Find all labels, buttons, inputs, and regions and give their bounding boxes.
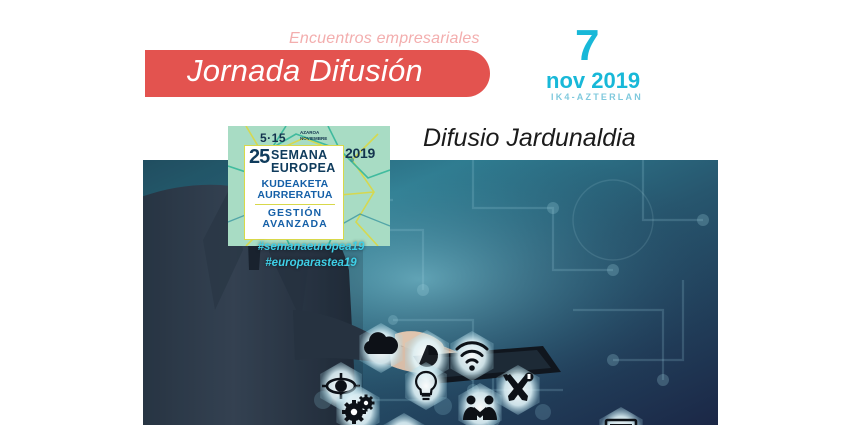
- logo-inner-box: 25 SEMANA EUROPEA KUDEAKETA AURRERATUA G…: [244, 145, 344, 240]
- hashtag-block: #semanaeuropea19 #europarastea19: [236, 240, 386, 271]
- logo-theme-basque: KUDEAKETA AURRERATUA: [252, 179, 338, 202]
- date-day: 7: [575, 24, 598, 68]
- logo-month-es: NOVIEMBRE: [300, 136, 327, 142]
- event-kicker: Encuentros empresariales: [289, 30, 480, 48]
- page-title: Jornada Difusión: [187, 53, 487, 89]
- logo-month-names: AZAROA NOVIEMBRE: [300, 130, 327, 141]
- logo-year: 2019: [345, 145, 375, 161]
- logo-theme-es-line2: AVANZADA: [252, 219, 338, 230]
- logo-theme-spanish: GESTIÓN AVANZADA: [252, 208, 338, 231]
- logo-divider: [255, 204, 335, 205]
- logo-name-line2: EUROPEA: [271, 162, 336, 175]
- hashtag-primary: #semanaeuropea19: [236, 240, 386, 256]
- logo-date-range: 5·15: [260, 131, 286, 145]
- subtitle-basque: Difusio Jardunaldia: [423, 124, 636, 153]
- logo-edition-number: 25: [249, 149, 269, 166]
- date-month-year: nov 2019: [546, 70, 640, 92]
- semana-europea-logo: 5·15 AZAROA NOVIEMBRE 2019 25 SEMANA EUR…: [228, 126, 390, 246]
- organizer-label: IK4-AZTERLAN: [551, 92, 643, 102]
- logo-event-name: SEMANA EUROPEA: [271, 149, 336, 175]
- logo-name-line1: SEMANA: [271, 149, 336, 162]
- poster-root: Encuentros empresariales Jornada Difusió…: [0, 0, 865, 425]
- hashtag-secondary: #europarastea19: [236, 256, 386, 272]
- logo-theme-eu-line2: AURRERATUA: [252, 190, 338, 201]
